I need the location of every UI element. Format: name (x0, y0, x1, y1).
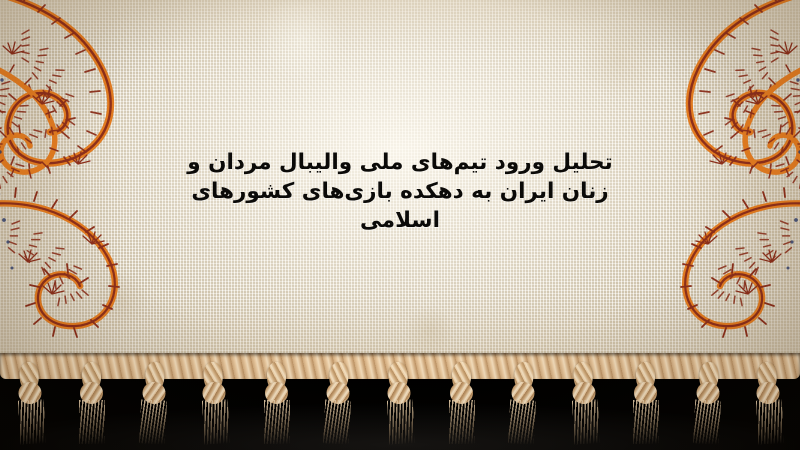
tassel-strands (18, 399, 46, 444)
tassel-strands (264, 400, 290, 444)
title-line-2: زنان ایران به دهکده بازی‌های کشورهای (170, 177, 630, 206)
tassel-strands (202, 399, 230, 444)
tassel-strands (323, 399, 351, 444)
tassel-strands (139, 399, 167, 444)
tassel (12, 359, 50, 447)
tassel-strands (79, 400, 105, 444)
tassel (196, 359, 234, 447)
tassel (629, 360, 663, 446)
tassel (319, 359, 357, 447)
title-line-1: تحلیل ورود تیم‌های ملی والیبال مردان و (170, 148, 630, 177)
tassel (445, 360, 479, 446)
tassel-strands (756, 399, 784, 444)
page-title: تحلیل ورود تیم‌های ملی والیبال مردان و ز… (170, 148, 630, 236)
tassel-fringe (0, 360, 800, 450)
tassel-strands (571, 399, 599, 444)
tassel-strands (508, 399, 536, 444)
tassel (688, 359, 726, 447)
tassel-strands (449, 400, 475, 444)
tassel-strands (693, 399, 721, 444)
tassel-strands (633, 400, 659, 444)
title-line-3: اسلامی (170, 206, 630, 235)
tassel (381, 359, 419, 447)
tassel (504, 359, 542, 447)
tassel (750, 359, 788, 447)
tassel-strands (387, 399, 415, 444)
tassel (135, 359, 173, 447)
tassel (260, 360, 294, 446)
title-card-canvas: تحلیل ورود تیم‌های ملی والیبال مردان و ز… (0, 0, 800, 450)
tassel (75, 360, 109, 446)
tassel (565, 359, 603, 447)
